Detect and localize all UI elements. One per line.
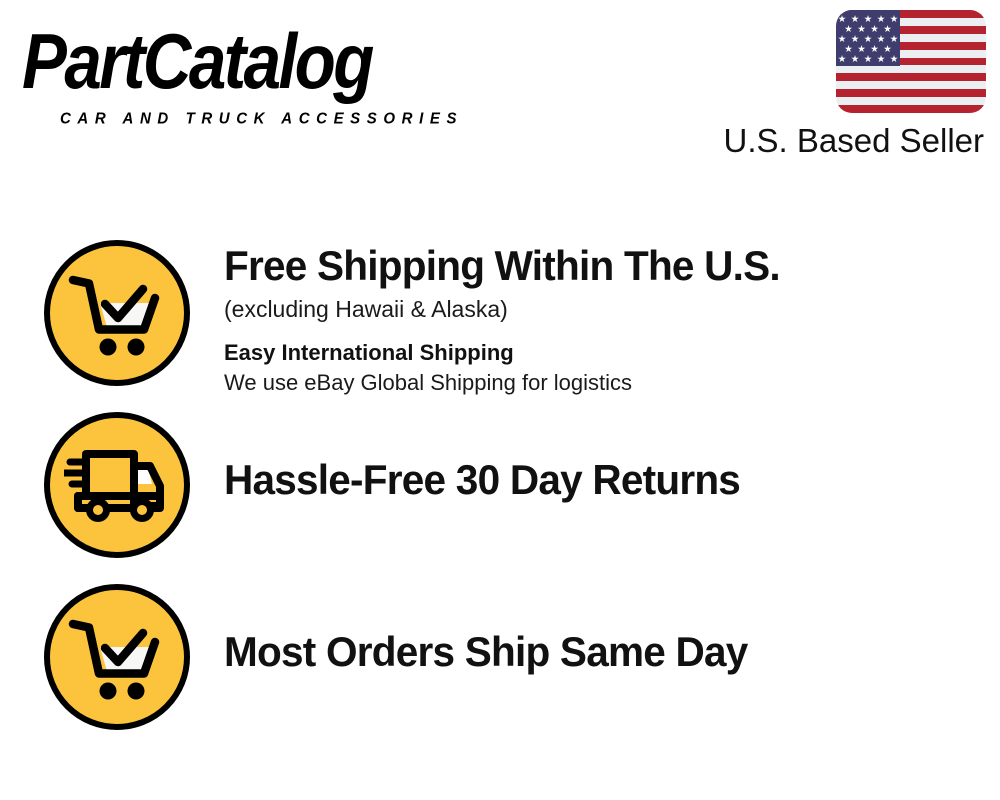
flag-star: ★ xyxy=(877,34,885,43)
feature-row: Hassle-Free 30 Day Returns xyxy=(0,412,1000,558)
feature-title: Hassle-Free 30 Day Returns xyxy=(224,456,973,504)
feature-icon-wrap xyxy=(42,412,192,558)
flag-stripe xyxy=(836,89,986,97)
feature-text: Hassle-Free 30 Day Returns xyxy=(224,412,1000,504)
feature-subtitle-plain: We use eBay Global Shipping for logistic… xyxy=(224,368,1000,398)
flag-star: ★ xyxy=(844,24,852,33)
flag-star: ★ xyxy=(838,54,846,63)
brand-logo[interactable]: PartCatalog CAR AND TRUCK ACCESSORIES xyxy=(22,22,492,117)
flag-canton: ★ ★ ★ ★ ★ ★ ★ ★ ★ ★ ★ ★ ★ ★ xyxy=(836,10,900,66)
flag-star: ★ xyxy=(851,34,859,43)
flag-star: ★ xyxy=(864,54,872,63)
flag-star-row: ★ ★ ★ ★ ★ xyxy=(836,34,900,43)
flag-star: ★ xyxy=(864,14,872,23)
us-flag-icon: ★ ★ ★ ★ ★ ★ ★ ★ ★ ★ ★ ★ ★ ★ xyxy=(836,10,986,113)
flag-star-row: ★ ★ ★ ★ ★ xyxy=(836,54,900,63)
flag-star: ★ xyxy=(870,24,878,33)
flag-star: ★ xyxy=(877,54,885,63)
feature-subtitle-strong: Easy International Shipping xyxy=(224,338,1000,367)
flag-star-row: ★ ★ ★ ★ xyxy=(836,24,900,33)
flag-star: ★ xyxy=(890,34,898,43)
flag-star: ★ xyxy=(877,14,885,23)
flag-star-row: ★ ★ ★ ★ xyxy=(836,44,900,53)
feature-icon-wrap xyxy=(42,240,192,386)
feature-subtitle: (excluding Hawaii & Alaska) xyxy=(224,294,1000,324)
flag-star: ★ xyxy=(844,44,852,53)
flag-star: ★ xyxy=(838,34,846,43)
seller-label: U.S. Based Seller xyxy=(706,122,986,160)
feature-text: Most Orders Ship Same Day xyxy=(224,584,1000,676)
shopping-cart-check-icon xyxy=(44,240,190,386)
brand-wordmark: PartCatalog xyxy=(22,22,501,100)
feature-row: Most Orders Ship Same Day xyxy=(0,584,1000,730)
feature-text: Free Shipping Within The U.S. (excluding… xyxy=(224,240,1000,398)
flag-star: ★ xyxy=(890,14,898,23)
flag-star-row: ★ ★ ★ ★ ★ xyxy=(836,14,900,23)
flag-stripe xyxy=(836,73,986,81)
flag-star: ★ xyxy=(851,54,859,63)
flag-star: ★ xyxy=(883,44,891,53)
flag-star: ★ xyxy=(838,14,846,23)
flag-stripe xyxy=(836,105,986,113)
flag-star: ★ xyxy=(870,44,878,53)
feature-title: Free Shipping Within The U.S. xyxy=(224,242,973,290)
feature-icon-wrap xyxy=(42,584,192,730)
page-header: PartCatalog CAR AND TRUCK ACCESSORIES ★ … xyxy=(0,0,1000,170)
shopping-cart-check-icon xyxy=(44,584,190,730)
flag-star: ★ xyxy=(890,54,898,63)
feature-title: Most Orders Ship Same Day xyxy=(224,628,973,676)
seller-badge: ★ ★ ★ ★ ★ ★ ★ ★ ★ ★ ★ ★ ★ ★ xyxy=(706,10,986,160)
brand-tagline: CAR AND TRUCK ACCESSORIES xyxy=(60,110,463,128)
delivery-truck-icon xyxy=(44,412,190,558)
flag-star: ★ xyxy=(857,44,865,53)
flag-star: ★ xyxy=(851,14,859,23)
flag-star: ★ xyxy=(857,24,865,33)
feature-row: Free Shipping Within The U.S. (excluding… xyxy=(0,240,1000,398)
flag-star: ★ xyxy=(883,24,891,33)
flag-star: ★ xyxy=(864,34,872,43)
